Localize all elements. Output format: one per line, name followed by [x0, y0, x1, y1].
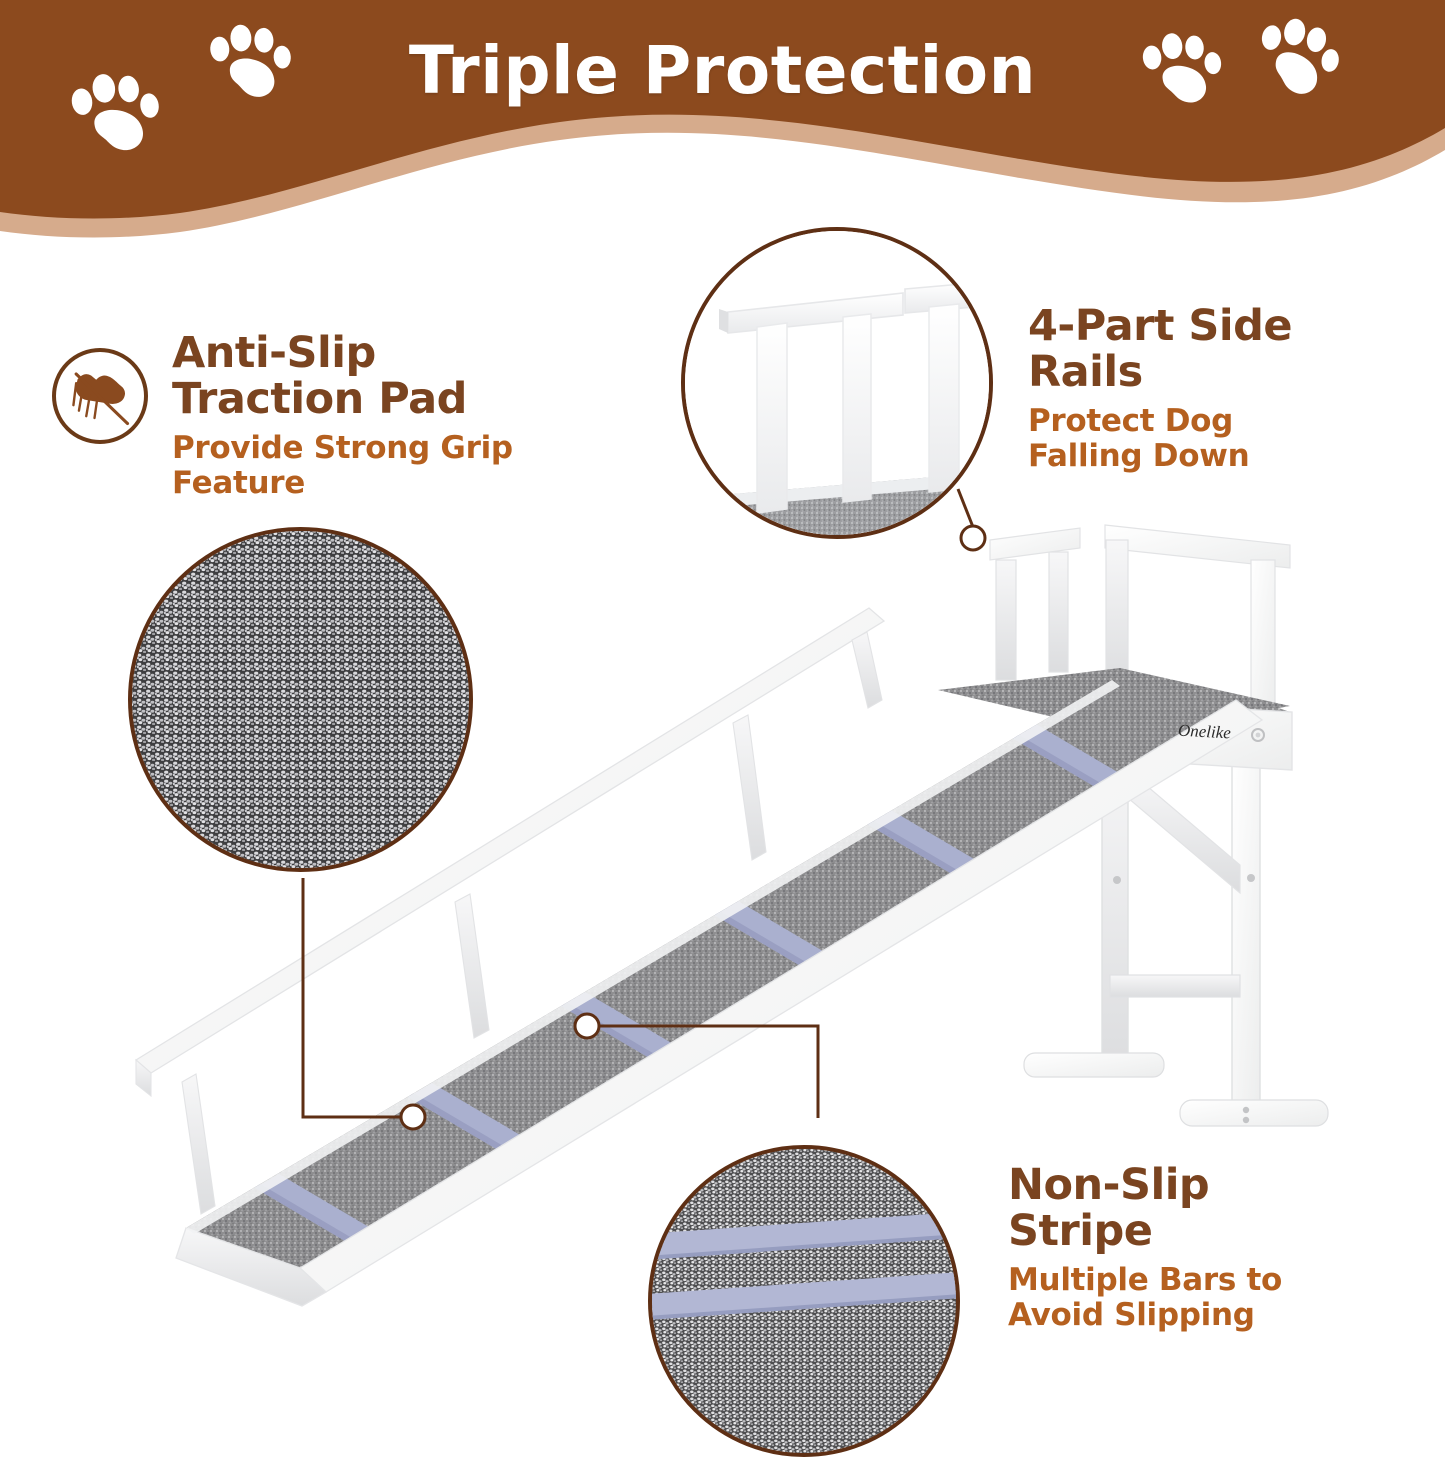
boot-slip-icon	[52, 348, 148, 444]
feature-subheading: Provide Strong Grip Feature	[172, 431, 592, 502]
zoom-circle-traction-pad	[128, 527, 473, 872]
marker-stripe	[575, 1014, 599, 1038]
carpet-closeup-texture	[128, 527, 473, 872]
stripe-closeup-texture	[648, 1145, 960, 1457]
feature-non-slip-stripe: Non-Slip Stripe Multiple Bars to Avoid S…	[1008, 1162, 1428, 1334]
zoom-circle-non-slip-stripe	[648, 1145, 960, 1457]
feature-heading: 4-Part Side Rails	[1028, 303, 1428, 395]
boot-slip-glyph	[56, 352, 144, 440]
feature-four-part-side-rails: 4-Part Side Rails Protect Dog Falling Do…	[1028, 303, 1428, 475]
feature-heading: Non-Slip Stripe	[1008, 1162, 1428, 1254]
feature-heading: Anti-Slip Traction Pad	[172, 330, 592, 422]
zoom-circle-side-rails	[681, 227, 993, 539]
side-rails-closeup	[681, 227, 993, 539]
brand-label: Onelike	[1178, 721, 1232, 744]
feature-subheading: Multiple Bars to Avoid Slipping	[1008, 1263, 1428, 1334]
infographic-canvas: Triple Protection	[0, 0, 1445, 1416]
feature-subheading: Protect Dog Falling Down	[1028, 404, 1428, 475]
feature-anti-slip-traction-pad: Anti-Slip Traction Pad Provide Strong Gr…	[172, 330, 592, 502]
marker-traction-pad	[401, 1105, 425, 1129]
